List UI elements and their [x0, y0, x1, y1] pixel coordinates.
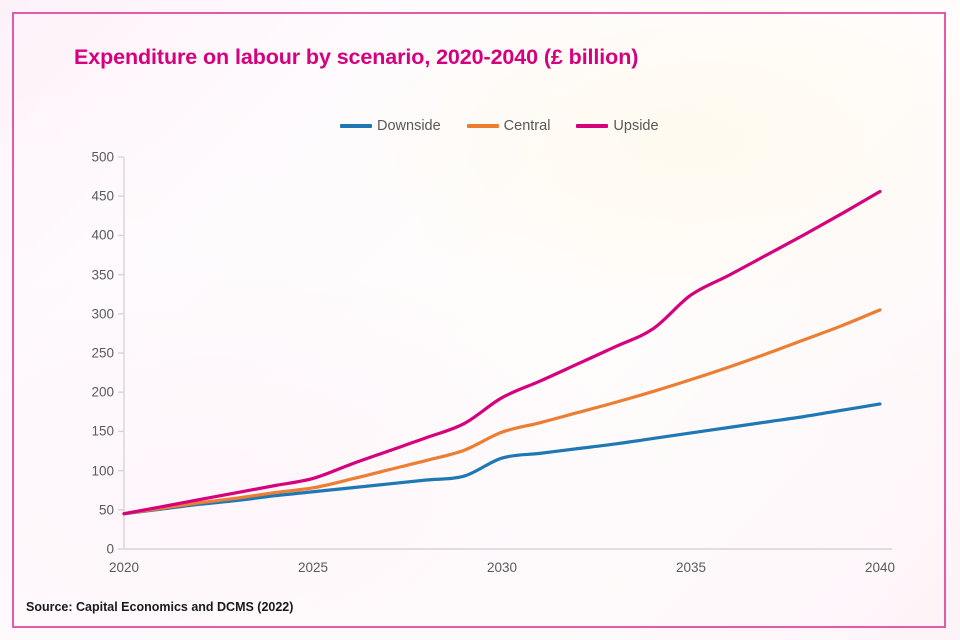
series-line-central	[124, 310, 880, 514]
y-tick-label: 0	[74, 542, 114, 557]
y-tick-label: 500	[74, 150, 114, 165]
y-tick-label: 400	[74, 228, 114, 243]
x-tick-label: 2030	[487, 560, 517, 575]
x-tick-label: 2025	[298, 560, 328, 575]
y-tick-label: 300	[74, 306, 114, 321]
y-tick-label: 150	[74, 424, 114, 439]
chart-canvas: Expenditure on labour by scenario, 2020-…	[0, 0, 960, 640]
y-tick-label: 50	[74, 502, 114, 517]
source-note: Source: Capital Economics and DCMS (2022…	[26, 600, 293, 614]
x-tick-label: 2020	[109, 560, 139, 575]
y-tick-label: 450	[74, 189, 114, 204]
x-tick-label: 2040	[865, 560, 895, 575]
y-tick-label: 200	[74, 385, 114, 400]
y-axis: 050100150200250300350400450500	[74, 0, 114, 640]
y-tick-label: 250	[74, 346, 114, 361]
plot-svg	[0, 0, 960, 640]
x-tick-label: 2035	[676, 560, 706, 575]
y-tick-label: 100	[74, 463, 114, 478]
plot-area	[0, 0, 960, 640]
y-tick-label: 350	[74, 267, 114, 282]
